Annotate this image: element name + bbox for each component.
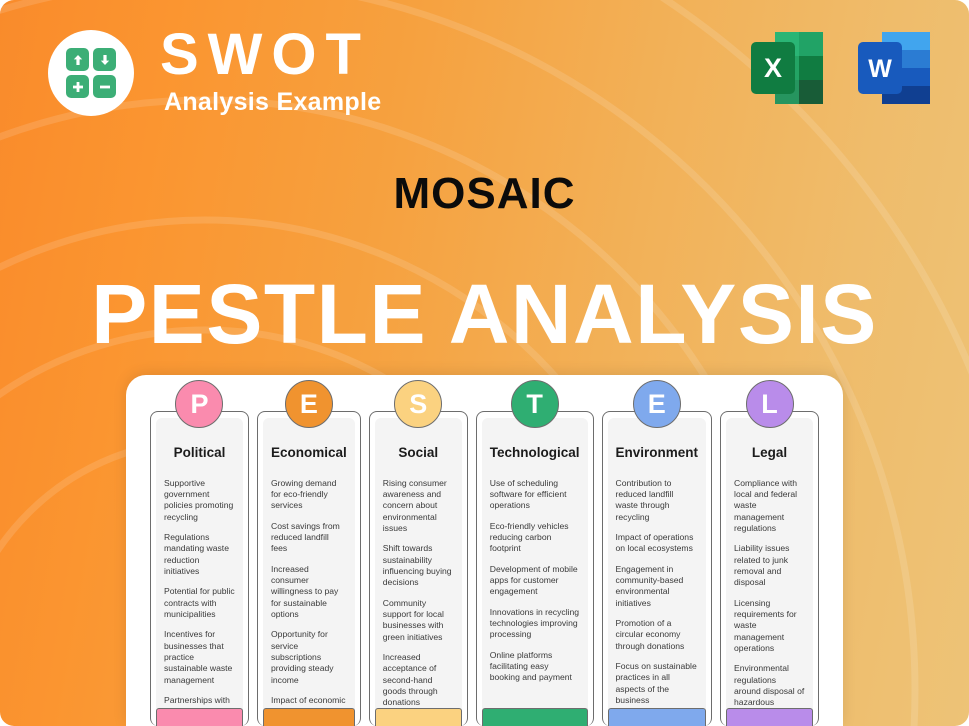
swot-logo [48,30,134,116]
list-item: Focus on sustainable practices in all as… [616,661,699,706]
pestle-column-title: Social [383,446,454,460]
pestle-column-body: EconomicalGrowing demand for eco-friendl… [263,418,355,726]
list-item: Eco-friendly vehicles reducing carbon fo… [490,521,580,555]
list-item: Engagement in community-based environmen… [616,564,699,609]
list-item: Supportive government policies promoting… [164,478,235,523]
list-item: Potential for public contracts with muni… [164,586,235,620]
pestle-letter-badge: L [746,380,794,428]
pestle-column-legal[interactable]: LegalCompliance with local and federal w… [720,411,819,726]
pestle-letter-badge: S [394,380,442,428]
pestle-card: PoliticalSupportive government policies … [126,375,843,726]
plus-icon [66,75,89,98]
list-item: Community support for local businesses w… [383,598,454,643]
brand-text-block: SWOT Analysis Example [160,26,580,115]
pestle-column-body: LegalCompliance with local and federal w… [726,418,813,726]
list-item: Online platforms facilitating easy booki… [490,650,580,684]
pestle-column-title: Environment [616,446,699,460]
list-item: Liability issues related to junk removal… [734,543,805,588]
list-item: Cost savings from reduced landfill fees [271,521,347,555]
pestle-column-body: TechnologicalUse of scheduling software … [482,418,588,726]
brand-title: SWOT [160,26,580,84]
pestle-item-list: Growing demand for eco-friendly services… [271,478,347,726]
pestle-item-list: Contribution to reduced landfill waste t… [616,478,699,707]
pestle-color-bar [482,708,588,726]
list-item: Shift towards sustainability influencing… [383,543,454,588]
list-item: Increased acceptance of second-hand good… [383,652,454,709]
list-item: Innovations in recycling technologies im… [490,607,580,641]
list-item: Compliance with local and federal waste … [734,478,805,535]
pestle-color-bar [726,708,813,726]
pestle-item-list: Compliance with local and federal waste … [734,478,805,726]
list-item: Growing demand for eco-friendly services [271,478,347,512]
svg-text:W: W [868,55,892,83]
pestle-column-technological[interactable]: TechnologicalUse of scheduling software … [476,411,594,726]
pestle-column-environment[interactable]: EnvironmentContribution to reduced landf… [602,411,713,726]
brand-subtitle: Analysis Example [164,90,580,115]
list-item: Licensing requirements for waste managem… [734,598,805,655]
arrow-up-icon [66,48,89,71]
pestle-letter-badge: E [633,380,681,428]
pestle-column-title: Legal [734,446,805,460]
svg-text:X: X [764,53,782,83]
pestle-column-body: PoliticalSupportive government policies … [156,418,243,726]
list-item: Opportunity for service subscriptions pr… [271,629,347,686]
pestle-item-list: Supportive government policies promoting… [164,478,235,726]
pestle-column-political[interactable]: PoliticalSupportive government policies … [150,411,249,726]
page-title: PESTLE ANALYSIS [0,272,969,356]
list-item: Rising consumer awareness and concern ab… [383,478,454,535]
list-item: Contribution to reduced landfill waste t… [616,478,699,523]
pestle-letter-badge: P [175,380,223,428]
list-item: Impact of operations on local ecosystems [616,532,699,555]
pestle-analysis-slide: SWOT Analysis Example X [0,0,969,726]
pestle-column-body: SocialRising consumer awareness and conc… [375,418,462,726]
list-item: Promotion of a circular economy through … [616,618,699,652]
pestle-letter-badge: E [285,380,333,428]
pestle-column-economical[interactable]: EconomicalGrowing demand for eco-friendl… [257,411,361,726]
pestle-item-list: Use of scheduling software for efficient… [490,478,580,684]
slide-header: SWOT Analysis Example X [0,0,969,140]
list-item: Use of scheduling software for efficient… [490,478,580,512]
pestle-column-title: Technological [490,446,580,460]
pestle-color-bar [375,708,462,726]
pestle-column-social[interactable]: SocialRising consumer awareness and conc… [369,411,468,726]
pestle-color-bar [608,708,707,726]
word-icon[interactable]: W [854,28,949,108]
list-item: Increased consumer willingness to pay fo… [271,564,347,621]
pestle-column-title: Economical [271,446,347,460]
minus-icon [93,75,116,98]
pestle-columns: PoliticalSupportive government policies … [150,411,819,726]
excel-icon[interactable]: X [747,28,842,108]
swot-quad-icon [66,48,116,98]
pestle-color-bar [263,708,355,726]
pestle-item-list: Rising consumer awareness and concern ab… [383,478,454,726]
pestle-column-body: EnvironmentContribution to reduced landf… [608,418,707,726]
list-item: Development of mobile apps for customer … [490,564,580,598]
list-item: Regulations mandating waste reduction in… [164,532,235,577]
arrow-down-icon [93,48,116,71]
company-title: MOSAIC [0,172,969,216]
pestle-letter-badge: T [511,380,559,428]
list-item: Incentives for businesses that practice … [164,629,235,686]
office-app-icons: X W [747,28,949,108]
pestle-color-bar [156,708,243,726]
pestle-column-title: Political [164,446,235,460]
